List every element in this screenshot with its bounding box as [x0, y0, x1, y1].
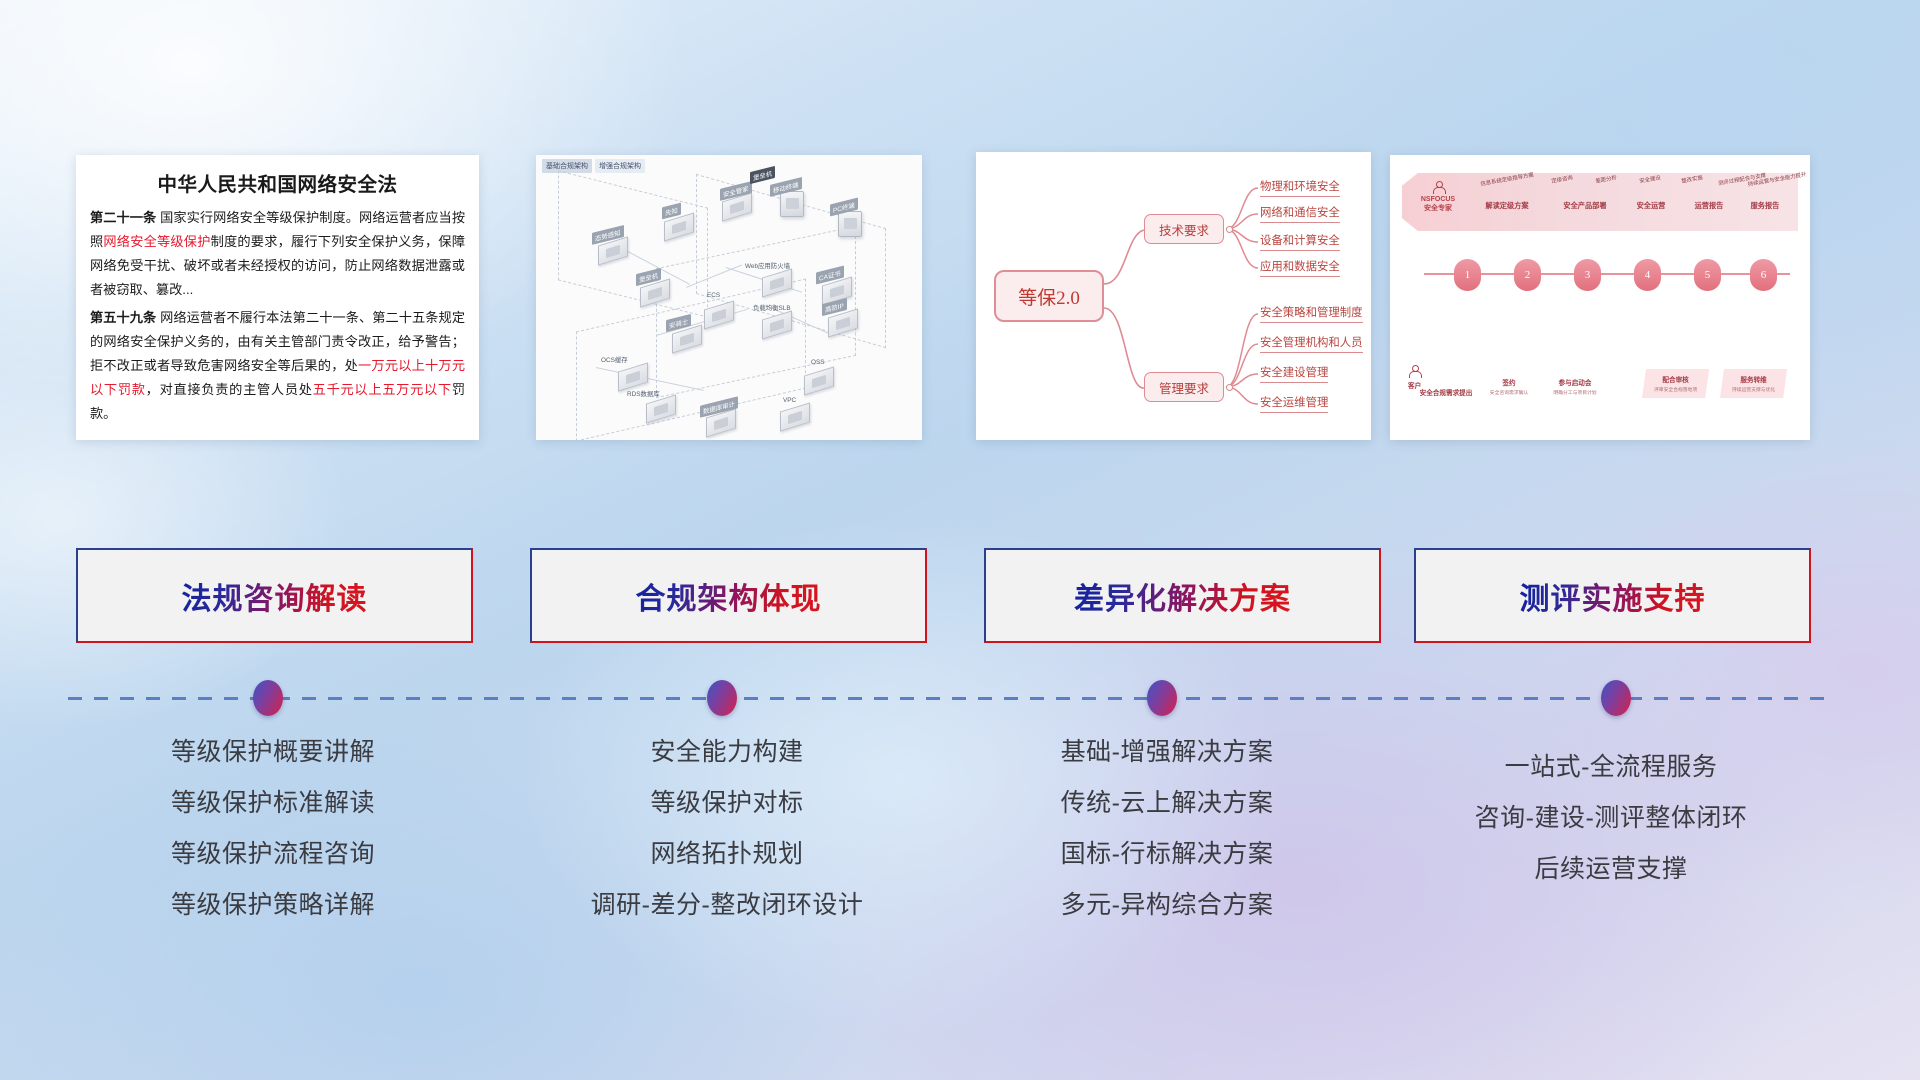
mindmap-leaf-construction-mgmt: 安全建设管理 [1260, 364, 1328, 383]
architecture-node-anqishi [672, 329, 702, 349]
bullet-2-4: 调研-差分-整改闭环设计 [527, 893, 927, 918]
law-article-59-label: 第五十九条 [90, 310, 156, 325]
architecture-node-ocs [618, 367, 648, 387]
section-title-1: 法规咨询解读 [182, 574, 368, 618]
timeline-dot-4 [1601, 680, 1631, 716]
nsfocus-footer-item-4: 配合审核 评审安全合规落地项 [1642, 369, 1709, 398]
architecture-node-db-audit [706, 413, 736, 433]
bullet-1-3: 等级保护流程咨询 [73, 842, 473, 867]
bullet-column-1: 等级保护概要讲解 等级保护标准解读 等级保护流程咨询 等级保护策略详解 [73, 740, 473, 944]
mindmap-dot-technical [1226, 226, 1233, 233]
architecture-label-waf: Web应用防火墙 [742, 259, 793, 271]
nsfocus-step-2: 2 [1514, 259, 1541, 291]
mindmap-leaf-device-security: 设备和计算安全 [1260, 232, 1340, 251]
architecture-tab-basic[interactable]: 基础合规架构 [542, 159, 592, 173]
nsfocus-footer-item-1: 安全合规需求提出 [1412, 387, 1480, 397]
architecture-node-pc-terminal [838, 211, 862, 237]
nsfocus-service-cell-3: 安全运营 [1626, 201, 1676, 211]
bullet-3-1: 基础-增强解决方案 [967, 740, 1367, 765]
nsfocus-service-cell-4: 运营报告 [1684, 201, 1734, 211]
architecture-node-rds [646, 399, 676, 419]
architecture-node-ecs [704, 305, 734, 325]
mindmap-leaf-physical-security: 物理和环境安全 [1260, 178, 1340, 197]
nsfocus-service-cell-2: 安全产品部署 [1552, 201, 1618, 211]
nsfocus-service-cell-5: 服务报告 [1740, 201, 1790, 211]
card-compliance-architecture: 基础合规架构 增强合规架构 安全管家 先知 态势感知 堡垒机 [536, 155, 922, 440]
nsfocus-step-3: 3 [1574, 259, 1601, 291]
bullet-3-3: 国标-行标解决方案 [967, 842, 1367, 867]
timeline-dot-2 [707, 680, 737, 716]
law-article-21-label: 第二十一条 [90, 210, 156, 225]
section-title-3: 差异化解决方案 [1074, 574, 1291, 618]
bullet-4-2: 咨询-建设-测评整体闭环 [1411, 806, 1811, 831]
architecture-node-mobile-terminal [780, 191, 804, 217]
section-plate-compliance-architecture[interactable]: 合规架构体现 [530, 548, 927, 643]
timeline-dashed-line [68, 697, 1830, 700]
law-article-59: 第五十九条 网络运营者不履行本法第二十一条、第二十五条规定的网络安全保护义务的，… [90, 306, 465, 426]
bullet-column-2: 安全能力构建 等级保护对标 网络拓扑规划 调研-差分-整改闭环设计 [527, 740, 927, 944]
architecture-tab-enhanced[interactable]: 增强合规架构 [595, 159, 645, 173]
nsfocus-footer-item-5: 服务转维 持续运营支撑与优化 [1720, 369, 1787, 398]
nsfocus-logo-line2: 安全专家 [1412, 205, 1464, 214]
card-cybersecurity-law: 中华人民共和国网络安全法 第二十一条 国家实行网络安全等级保护制度。网络运营者应… [76, 155, 479, 440]
architecture-label-ocs: OCS缓存 [598, 353, 631, 365]
nsfocus-footer-item-3: 参与启动会 明确分工与项目计划 [1538, 377, 1612, 396]
nsfocus-footer-sub-2: 安全咨询需求确认 [1486, 389, 1532, 396]
architecture-label-vpc: VPC [780, 395, 799, 405]
section-plate-differentiated-solution[interactable]: 差异化解决方案 [984, 548, 1381, 643]
nsfocus-step-6: 6 [1750, 259, 1777, 291]
mindmap-leaf-network-security: 网络和通信安全 [1260, 204, 1340, 223]
bullet-column-4: 一站式-全流程服务 咨询-建设-测评整体闭环 后续运营支撑 [1411, 755, 1811, 908]
architecture-node-security-butler [722, 197, 752, 217]
bullet-1-1: 等级保护概要讲解 [73, 740, 473, 765]
section-title-2: 合规架构体现 [636, 574, 822, 618]
architecture-label-slb: 负载均衡SLB [750, 301, 794, 313]
bullet-3-4: 多元-异构综合方案 [967, 893, 1367, 918]
architecture-node-oss [804, 371, 834, 391]
architecture-node-anti-ddos [828, 313, 858, 333]
mindmap-dot-management [1226, 384, 1233, 391]
nsfocus-footer-sub-4: 评审安全合规落地项 [1654, 386, 1697, 393]
bullet-3-2: 传统-云上解决方案 [967, 791, 1367, 816]
law-article-21-highlight: 网络安全等级保护 [103, 234, 210, 249]
nsfocus-step-1: 1 [1454, 259, 1481, 291]
timeline-dot-1 [253, 680, 283, 716]
card-mindmap-dengbao: 等保2.0 技术要求 物理和环境安全 网络和通信安全 设备和计算安全 应用和数据… [976, 152, 1371, 440]
nsfocus-footer-sub-5: 持续运营支撑与优化 [1732, 386, 1775, 393]
architecture-label-oss: OSS [808, 357, 828, 367]
section-title-4: 测评实施支持 [1520, 574, 1706, 618]
bullet-1-4: 等级保护策略详解 [73, 893, 473, 918]
nsfocus-footer-sub-3: 明确分工与项目计划 [1538, 389, 1612, 396]
architecture-diagram: 基础合规架构 增强合规架构 安全管家 先知 态势感知 堡垒机 [536, 155, 922, 440]
architecture-node-ca-cert [822, 281, 852, 301]
mindmap-leaf-application-security: 应用和数据安全 [1260, 258, 1340, 277]
nsfocus-infographic: NSFOCUS 安全专家 信息系统定级指导方案 定级咨询 差距分析 安全建设 整… [1390, 155, 1810, 440]
law-article-59-highlight-2: 五千元以上五万元以下 [313, 382, 452, 397]
architecture-node-slb [762, 315, 792, 335]
law-body: 第二十一条 国家实行网络安全等级保护制度。网络运营者应当按照网络安全等级保护制度… [76, 197, 479, 426]
bullet-2-2: 等级保护对标 [527, 791, 927, 816]
bullet-1-2: 等级保护标准解读 [73, 791, 473, 816]
nsfocus-logo-line1: NSFOCUS [1412, 196, 1464, 205]
architecture-node-waf [762, 273, 792, 293]
law-article-59-text-2: ，对直接负责的主管人员处 [146, 382, 313, 397]
bullet-4-3: 后续运营支撑 [1411, 857, 1811, 882]
nsfocus-footer-title-3: 参与启动会 [1559, 380, 1592, 387]
nsfocus-footer-title-4: 配合审核 [1654, 374, 1697, 384]
mindmap-leaf-security-org: 安全管理机构和人员 [1260, 334, 1363, 353]
architecture-node-bastion [640, 283, 670, 303]
nsfocus-footer-title-2: 签约 [1502, 380, 1515, 387]
architecture-node-situational-awareness [598, 241, 628, 261]
nsfocus-logo: NSFOCUS 安全专家 [1412, 181, 1464, 214]
nsfocus-service-cell-1: 解读定级方案 [1474, 201, 1540, 211]
expert-person-icon [1432, 181, 1445, 194]
bullet-4-1: 一站式-全流程服务 [1411, 755, 1811, 780]
architecture-node-vpc [780, 407, 810, 427]
mindmap-leaf-security-policy: 安全策略和管理制度 [1260, 304, 1363, 323]
mindmap-core-node: 等保2.0 [994, 270, 1104, 322]
mindmap: 等保2.0 技术要求 物理和环境安全 网络和通信安全 设备和计算安全 应用和数据… [976, 152, 1371, 440]
bullet-2-1: 安全能力构建 [527, 740, 927, 765]
nsfocus-step-5: 5 [1694, 259, 1721, 291]
mindmap-branch-management: 管理要求 [1144, 372, 1224, 402]
nsfocus-footer-title-5: 服务转维 [1732, 374, 1775, 384]
architecture-label-ecs: ECS [704, 290, 723, 300]
card-nsfocus-timeline: NSFOCUS 安全专家 信息系统定级指导方案 定级咨询 差距分析 安全建设 整… [1390, 155, 1810, 440]
nsfocus-step-4: 4 [1634, 259, 1661, 291]
section-plate-regulation-consulting[interactable]: 法规咨询解读 [76, 548, 473, 643]
bullet-2-3: 网络拓扑规划 [527, 842, 927, 867]
nsfocus-footer-title-1: 安全合规需求提出 [1420, 390, 1473, 397]
nsfocus-footer-item-2: 签约 安全咨询需求确认 [1486, 377, 1532, 396]
architecture-label-bastion-alt: 堡垒机 [750, 166, 775, 184]
law-title: 中华人民共和国网络安全法 [76, 155, 479, 197]
customer-person-icon [1408, 365, 1421, 378]
mindmap-leaf-operation-mgmt: 安全运维管理 [1260, 394, 1328, 413]
mindmap-branch-technical: 技术要求 [1144, 214, 1224, 244]
law-article-21: 第二十一条 国家实行网络安全等级保护制度。网络运营者应当按照网络安全等级保护制度… [90, 206, 465, 302]
architecture-node-xianzhi [664, 217, 694, 237]
section-plate-assessment-support[interactable]: 测评实施支持 [1414, 548, 1811, 643]
bullet-column-3: 基础-增强解决方案 传统-云上解决方案 国标-行标解决方案 多元-异构综合方案 [967, 740, 1367, 944]
timeline-dot-3 [1147, 680, 1177, 716]
architecture-label-rds: RDS数据库 [624, 387, 663, 399]
